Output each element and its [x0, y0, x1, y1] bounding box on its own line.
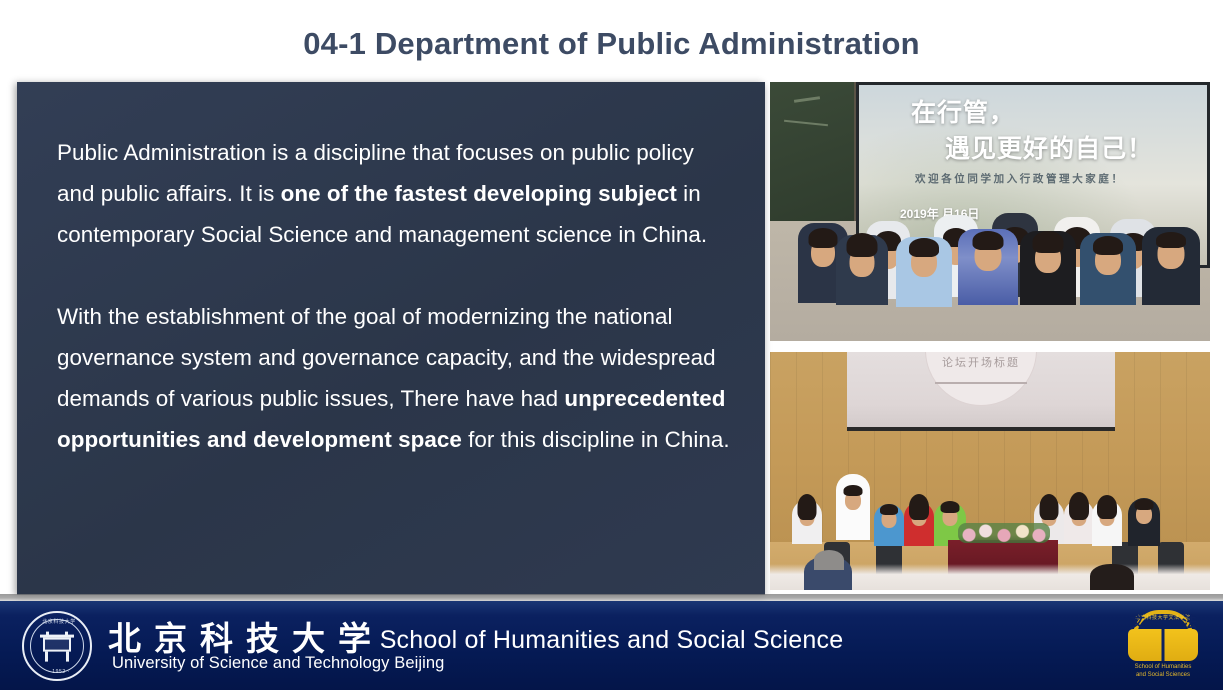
- person: [958, 229, 1018, 341]
- photo-group-faculty: 在行管， 遇见更好的自己！ 欢迎各位同学加入行政管理大家庭！ 2019年 月16…: [770, 82, 1210, 341]
- person: [1080, 233, 1136, 341]
- stage-screen-text: 论坛开场标题: [942, 354, 1020, 370]
- paragraph-2: With the establishment of the goal of mo…: [57, 296, 732, 460]
- footer-bar: 北京科技大学 · 1952 · 北京科技大学 University of Sci…: [0, 601, 1223, 690]
- person: [1020, 231, 1076, 341]
- emblem-char-left: 文: [1130, 615, 1145, 630]
- university-name-en: University of Science and Technology Bei…: [112, 654, 444, 673]
- school-emblem-icon: 北京科技大学文法学院 文 法 School of Humanities and …: [1122, 608, 1204, 682]
- footer-divider: [0, 594, 1223, 601]
- person: [1064, 500, 1094, 566]
- screen-underline: [935, 382, 1027, 384]
- stage-projector-screen: 论坛开场标题: [847, 352, 1115, 431]
- school-name: School of Humanities and Social Science: [0, 626, 1223, 655]
- photo-panel-discussion: 论坛开场标题: [770, 352, 1210, 590]
- person: [874, 504, 904, 566]
- people-group: [770, 82, 1210, 341]
- seal-arc-bottom-text: · 1952 ·: [24, 669, 94, 675]
- person: [1142, 227, 1200, 341]
- person: [836, 235, 888, 341]
- person: [1128, 498, 1160, 568]
- book-spine: [1162, 629, 1165, 661]
- emblem-char-right: 法: [1182, 615, 1197, 630]
- emblem-subtitle-line-1: School of Humanities: [1122, 664, 1204, 670]
- flower-arrangement: [958, 523, 1050, 543]
- content-panel: Public Administration is a discipline th…: [17, 82, 765, 595]
- person: [896, 237, 952, 341]
- audience-member: [1090, 564, 1134, 590]
- paragraph-1-bold-1: one of the fastest developing subject: [281, 181, 677, 206]
- page-title: 04-1 Department of Public Administration: [0, 26, 1223, 62]
- slide-canvas: 04-1 Department of Public Administration…: [0, 0, 1223, 690]
- paragraph-2-part-2: for this discipline in China.: [462, 427, 730, 452]
- seal-arc-top-text: 北京科技大学: [24, 618, 94, 625]
- person: [904, 502, 934, 566]
- emblem-subtitle-line-2: and Social Sciences: [1122, 672, 1204, 678]
- audience-member-head: [814, 550, 844, 570]
- paragraph-1: Public Administration is a discipline th…: [57, 132, 732, 255]
- person: [1092, 500, 1122, 568]
- open-book-icon: [1128, 629, 1198, 661]
